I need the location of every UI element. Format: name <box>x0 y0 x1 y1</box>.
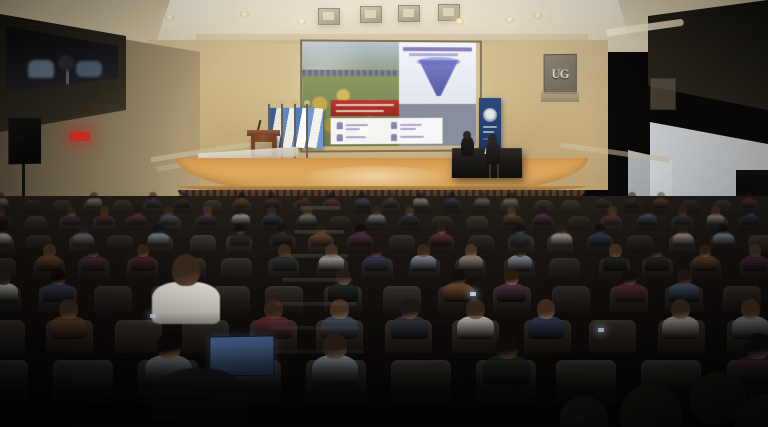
audience-person-head <box>43 244 55 257</box>
audience-person-body <box>742 214 759 225</box>
audience-person-body <box>368 214 385 225</box>
stage-chair-leg <box>497 164 499 178</box>
audience-person-head <box>598 192 606 200</box>
audience-person-head <box>268 192 276 200</box>
audience-person-head <box>328 192 336 200</box>
audience-person-head <box>644 206 653 215</box>
aisle-step <box>270 326 360 330</box>
audience-person-head <box>718 224 728 235</box>
audience-person-body <box>431 233 451 246</box>
auditorium-seat <box>627 235 653 253</box>
audience-person-head <box>133 206 142 215</box>
audience-person-head <box>671 299 690 319</box>
audience-person-head <box>417 244 429 257</box>
audience-person-head <box>465 244 477 257</box>
stage-person-left <box>461 136 474 156</box>
audience-person-body <box>129 214 146 225</box>
stage-person-left-head <box>463 131 471 139</box>
audience-person-body <box>503 214 520 225</box>
audience-person-head <box>67 206 76 215</box>
pa-speaker-stand <box>22 164 25 196</box>
audience-person-body <box>743 255 767 271</box>
audience-person-body <box>443 283 473 302</box>
audience-person-body <box>551 233 571 246</box>
wall-vent-icon <box>650 78 676 110</box>
audience-person-head <box>448 192 456 200</box>
audience-person-head <box>87 244 99 257</box>
audience-person-head <box>622 269 637 285</box>
auditorium-seat <box>561 200 580 213</box>
audience-person-body <box>0 233 11 246</box>
stage-chair-leg <box>489 164 491 178</box>
phone-screen-glow <box>598 328 604 332</box>
booth-occupant <box>76 61 102 77</box>
ceiling-downlight-icon <box>533 12 542 19</box>
audience-person-body <box>604 214 621 225</box>
fixture-diffuser <box>365 10 376 18</box>
audience-person-body <box>653 198 668 207</box>
audience-person-head <box>515 224 525 235</box>
audience-person-head <box>358 192 366 200</box>
audience-person-head <box>608 206 617 215</box>
person-white-top <box>152 282 220 324</box>
auditorium-seat <box>389 235 415 253</box>
person-white-top-head <box>172 254 200 286</box>
audience-person-body <box>528 316 565 340</box>
audience-person-body <box>603 255 627 271</box>
auditorium-seat <box>113 200 132 213</box>
auditorium-seat <box>25 216 47 231</box>
ceiling-downlight-icon <box>165 14 174 21</box>
auditorium-seat <box>23 200 42 213</box>
audience-person-body <box>713 233 733 246</box>
audience-person-body <box>615 283 645 302</box>
audience-person-body <box>497 283 527 302</box>
audience-person-body <box>594 198 609 207</box>
audience-person-body <box>459 255 483 271</box>
audience-person-body <box>50 316 87 340</box>
audience-person-head <box>0 269 11 285</box>
exit-sign <box>70 132 90 141</box>
audience-person-body <box>624 198 639 207</box>
audience-person-body <box>81 255 105 271</box>
audience-person-head <box>400 299 419 319</box>
fixture-diffuser <box>403 9 414 17</box>
audience-person-head <box>267 206 276 215</box>
audience-person-head <box>537 299 556 319</box>
audience-person-body <box>411 255 435 271</box>
fixture-diffuser <box>323 12 334 20</box>
ceiling-downlight-icon <box>505 16 514 23</box>
audience-person-head <box>745 192 753 200</box>
audience-person-head <box>609 244 621 257</box>
audience-person-body <box>534 214 551 225</box>
stage-person-right-head <box>488 134 497 143</box>
auditorium-seat <box>190 235 216 253</box>
audience-person-head <box>179 192 187 200</box>
audience-person-head <box>595 224 605 235</box>
projection-screen-frame <box>300 39 482 152</box>
audience-person-body <box>230 233 250 246</box>
aisle-step <box>282 278 352 282</box>
ceiling-square-fixture <box>398 5 420 22</box>
audience-person-body <box>391 316 428 340</box>
audience-person-body <box>383 198 398 207</box>
audience-person-head <box>556 224 566 235</box>
audience-person-head <box>164 206 173 215</box>
audience-person-head <box>479 192 487 200</box>
audience-person-head <box>504 269 519 285</box>
phone-screen-glow <box>470 292 476 296</box>
auditorium-seat <box>221 258 252 280</box>
ceiling-downlight-icon <box>240 11 249 18</box>
aisle-step <box>300 206 340 210</box>
audience-person-head <box>238 192 246 200</box>
audience-person-head <box>741 299 760 319</box>
phone-screen-glow <box>150 314 156 318</box>
audience-person-head <box>0 206 5 215</box>
audience-person-head <box>650 244 662 257</box>
audience-person-head <box>507 206 516 215</box>
audience-person-body <box>350 233 370 246</box>
audience-person-head <box>749 244 761 257</box>
audience-person-body <box>444 198 459 207</box>
audience-person-body <box>63 214 80 225</box>
audience-person-head <box>203 206 212 215</box>
audience-person-body <box>131 255 155 271</box>
audience-person-body <box>355 198 370 207</box>
audience-person-head <box>417 192 425 200</box>
wall-plaque-text: UG <box>551 66 568 82</box>
audience-person-head <box>149 192 157 200</box>
audience-person-head <box>90 192 98 200</box>
audience-person-head <box>628 192 636 200</box>
ceiling-downlight-icon <box>455 18 464 25</box>
booth-occupant <box>28 60 54 78</box>
banner-logo-icon <box>483 108 497 122</box>
audience-person-body <box>299 214 316 225</box>
audience-person-head <box>355 224 365 235</box>
auditorium-seat <box>329 216 351 231</box>
audience-person-body <box>693 255 717 271</box>
ceiling-downlight-icon <box>297 18 306 25</box>
aisle-step <box>288 254 348 258</box>
aisle-step <box>276 302 356 306</box>
audience-seating-area <box>0 196 768 427</box>
audience-person-body <box>148 233 168 246</box>
ceiling-square-fixture <box>318 8 340 25</box>
audience-person-head <box>50 269 65 285</box>
audience-person-body <box>662 316 699 340</box>
aisle-step <box>294 230 344 234</box>
audience-person-head <box>711 206 720 215</box>
audience-person-body <box>96 214 113 225</box>
auditorium-seat <box>552 286 590 313</box>
audience-person-head <box>78 224 88 235</box>
audience-person-head <box>677 269 692 285</box>
audience-person-body <box>475 198 490 207</box>
audience-person-body <box>457 316 494 340</box>
audience-person-body <box>364 255 388 271</box>
auditorium-seat <box>94 286 132 313</box>
audience-person-body <box>639 214 656 225</box>
audience-person-head <box>372 206 381 215</box>
audience-person-body <box>146 198 161 207</box>
auditorium-seat <box>549 258 580 280</box>
fixture-diffuser <box>443 8 454 16</box>
auditorium-photo: UG <box>0 0 768 427</box>
audience-person-head <box>507 192 515 200</box>
audience-person-head <box>451 269 466 285</box>
pa-speaker-left <box>8 118 41 165</box>
audience-person-body <box>413 198 428 207</box>
audience-person-head <box>538 206 547 215</box>
audience-person-head <box>466 299 485 319</box>
audience-person-body <box>645 255 669 271</box>
wall-plaque-ug: UG <box>544 54 577 94</box>
audience-person-body <box>0 283 18 302</box>
audience-person-head <box>235 224 245 235</box>
stage-person-right <box>486 140 500 166</box>
audience-person-body <box>175 198 190 207</box>
audience-person-body <box>590 233 610 246</box>
audience-person-body <box>160 214 177 225</box>
wall-plaque-base <box>541 92 579 102</box>
audience-person-head <box>100 206 109 215</box>
audience-person-body <box>673 233 693 246</box>
ceiling-square-fixture <box>360 6 382 23</box>
audience-person-head <box>237 206 246 215</box>
audience-person-head <box>514 244 526 257</box>
audience-person-head <box>746 206 755 215</box>
audience-person-body <box>401 214 418 225</box>
audience-person-body <box>263 214 280 225</box>
auditorium-seat <box>466 216 488 231</box>
booth-occupant <box>58 55 74 71</box>
audience-person-head <box>370 244 382 257</box>
audience-person-body <box>87 198 102 207</box>
audience-person-head <box>301 192 309 200</box>
auditorium-seat <box>107 235 133 253</box>
audience-person-head <box>59 299 78 319</box>
audience-person-head <box>387 192 395 200</box>
auditorium-seat <box>568 216 590 231</box>
audience-person-head <box>405 206 414 215</box>
audience-person-head <box>657 192 665 200</box>
flag-cloth <box>308 107 323 148</box>
audience-person-body <box>199 214 216 225</box>
audience-person-head <box>153 224 163 235</box>
audience-person-head <box>678 206 687 215</box>
